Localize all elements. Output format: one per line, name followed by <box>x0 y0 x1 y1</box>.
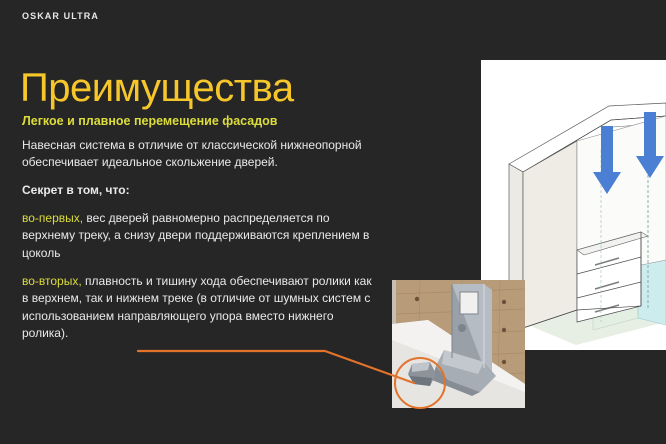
point-second-marker: во-вторых, <box>22 274 82 288</box>
section-subheading: Легкое и плавное перемещение фасадов <box>22 114 372 130</box>
secret-lead-text: Секрет в том, что: <box>22 183 130 197</box>
brand-label: OSKAR ULTRA <box>22 11 99 21</box>
slide-root: OSKAR ULTRA Преимущества Легкое и плавно… <box>0 0 666 444</box>
point-first: во-первых, вес дверей равномерно распред… <box>22 210 372 262</box>
secret-lead: Секрет в том, что: <box>22 182 372 199</box>
intro-paragraph: Навесная система в отличие от классическ… <box>22 137 372 172</box>
zoom-callout-circle <box>394 357 446 409</box>
point-second: во-вторых, плавность и тишину хода обесп… <box>22 273 372 343</box>
point-first-marker: во-первых, <box>22 211 83 225</box>
page-title: Преимущества <box>20 67 294 109</box>
body-copy: Легкое и плавное перемещение фасадов Нав… <box>22 114 372 354</box>
